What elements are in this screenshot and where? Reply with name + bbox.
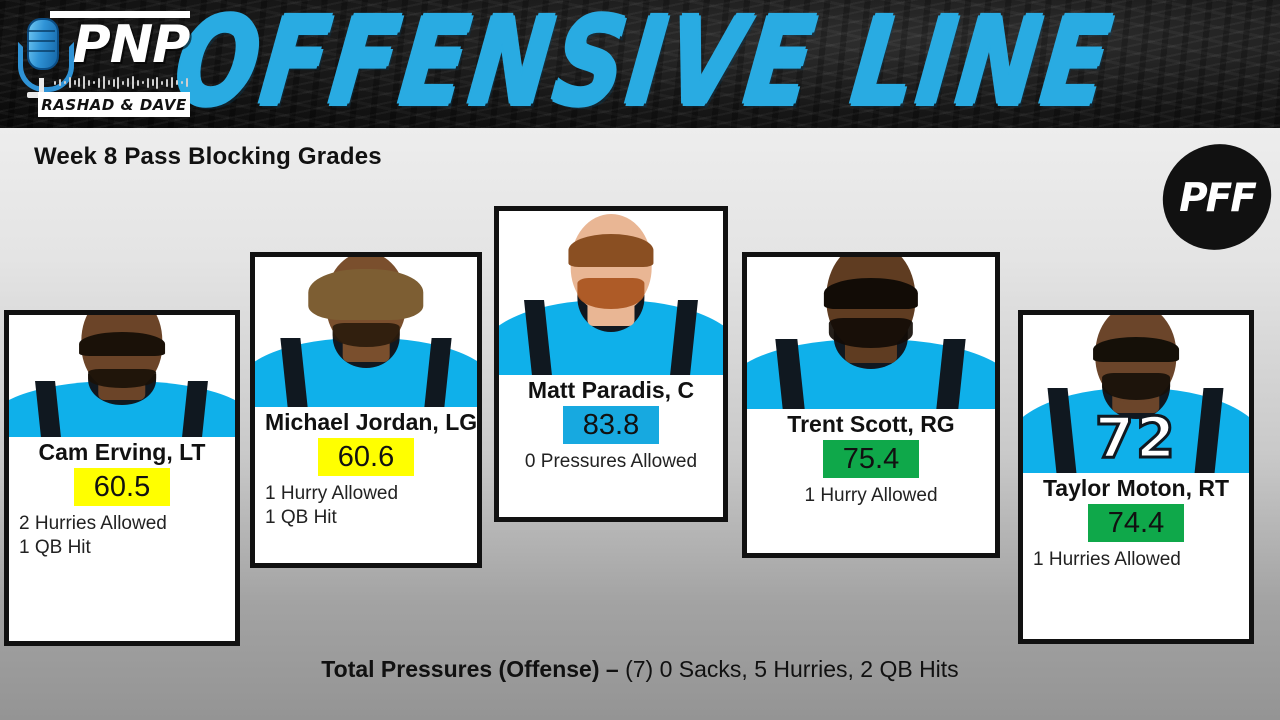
grade-badge: 75.4 <box>823 440 919 478</box>
player-name: Trent Scott, RG <box>757 411 985 437</box>
graphic-title-text: OFFENSIVE LINE <box>170 2 1121 123</box>
player-stat: 1 QB Hit <box>265 506 467 530</box>
player-card: Cam Erving, LT 60.5 2 Hurries Allowed 1 … <box>4 310 240 646</box>
graphic-title: OFFENSIVE LINE <box>205 2 1085 122</box>
waveform-icon <box>54 76 188 89</box>
grade-badge: 60.5 <box>74 468 170 506</box>
player-name: Matt Paradis, C <box>509 377 713 403</box>
player-headshot: 72 <box>1023 315 1249 473</box>
pff-wordmark: PFF <box>1162 179 1272 218</box>
player-name: Michael Jordan, LG <box>265 409 467 435</box>
pnp-wordmark: PNP <box>70 18 192 72</box>
player-card: Michael Jordan, LG 60.6 1 Hurry Allowed … <box>250 252 482 568</box>
pnp-hosts-bar: RASHAD & DAVE <box>38 92 190 117</box>
player-headshot <box>499 211 723 375</box>
offensive-line-graphic: PNP RASHAD & DAVE OFFENSIVE LINE Week 8 … <box>0 0 1280 720</box>
microphone-icon <box>14 16 68 102</box>
grade-badge: 60.6 <box>318 438 414 476</box>
player-card: 72 Taylor Moton, RT 74.4 1 Hurries Allow… <box>1018 310 1254 644</box>
player-stat: 0 Pressures Allowed <box>509 450 713 474</box>
player-stat: 1 Hurry Allowed <box>757 484 985 508</box>
grade-badge: 83.8 <box>563 406 659 444</box>
player-name: Cam Erving, LT <box>19 439 225 465</box>
player-headshot <box>9 315 235 437</box>
player-name: Taylor Moton, RT <box>1033 475 1239 501</box>
player-stat: 2 Hurries Allowed <box>19 512 225 536</box>
grade-badge: 74.4 <box>1088 504 1184 542</box>
pnp-hosts-label: RASHAD & DAVE <box>41 96 187 114</box>
player-card: Matt Paradis, C 83.8 0 Pressures Allowed <box>494 206 728 522</box>
player-stat: 1 Hurries Allowed <box>1033 548 1239 572</box>
player-stat: 1 QB Hit <box>19 536 225 560</box>
player-headshot <box>255 257 477 407</box>
total-pressures-footer: Total Pressures (Offense) – (7) 0 Sacks,… <box>0 656 1280 683</box>
header-band: PNP RASHAD & DAVE OFFENSIVE LINE <box>0 0 1280 128</box>
total-pressures-value: (7) 0 Sacks, 5 Hurries, 2 QB Hits <box>625 656 959 682</box>
pff-logo: PFF <box>1162 143 1272 253</box>
player-card: Trent Scott, RG 75.4 1 Hurry Allowed <box>742 252 1000 558</box>
jersey-number: 72 <box>1057 406 1215 471</box>
player-stat: 1 Hurry Allowed <box>265 482 467 506</box>
total-pressures-label: Total Pressures (Offense) – <box>321 656 625 682</box>
section-title: Week 8 Pass Blocking Grades <box>34 143 382 171</box>
pnp-podcast-logo: PNP RASHAD & DAVE <box>8 4 193 124</box>
player-headshot <box>747 257 995 409</box>
